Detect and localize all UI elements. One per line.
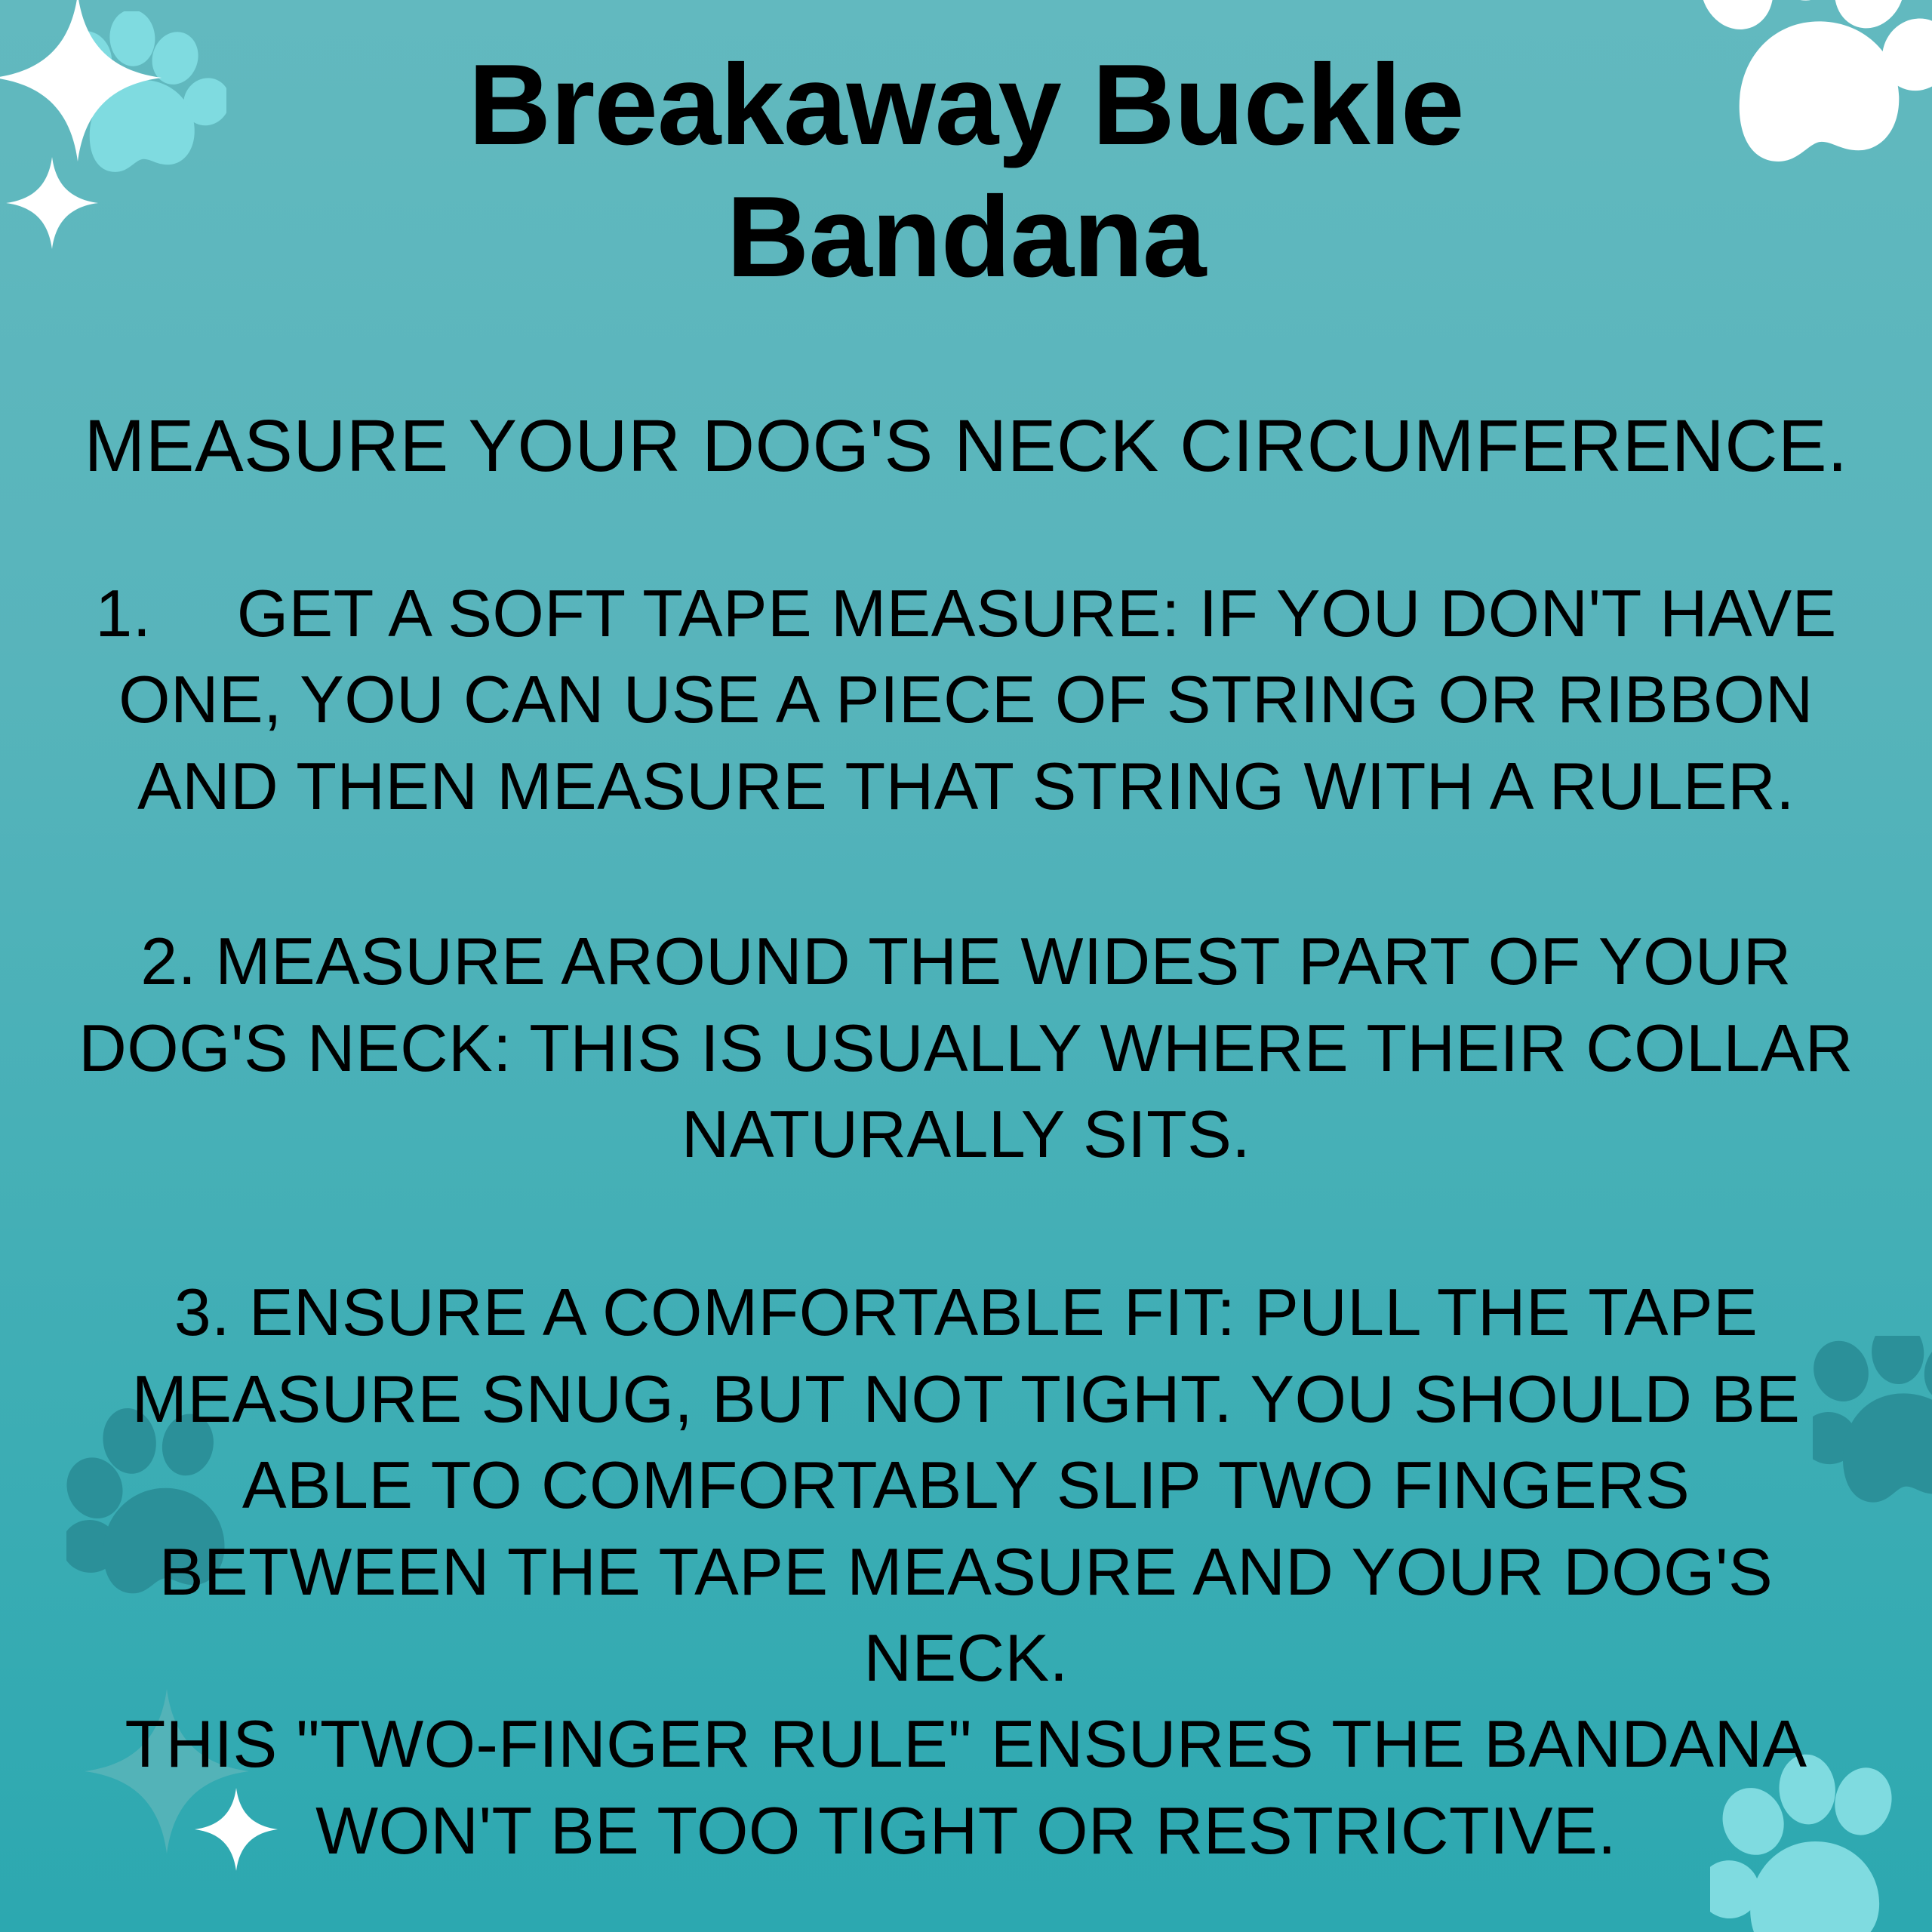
subtitle-instruction: MEASURE YOUR DOG'S NECK CIRCUMFERENCE. <box>69 303 1863 489</box>
poster-content: Breakaway Buckle Bandana MEASURE YOUR DO… <box>0 0 1932 1932</box>
instruction-step-1: 1. GET A SOFT TAPE MEASURE: IF YOU DON'T… <box>69 489 1863 829</box>
instruction-step-3: 3. ENSURE A COMFORTABLE FIT: PULL THE TA… <box>69 1177 1863 1874</box>
page-title: Breakaway Buckle Bandana <box>69 0 1863 303</box>
poster-canvas: Breakaway Buckle Bandana MEASURE YOUR DO… <box>0 0 1932 1932</box>
instruction-step-2: 2. MEASURE AROUND THE WIDEST PART OF YOU… <box>69 829 1863 1177</box>
